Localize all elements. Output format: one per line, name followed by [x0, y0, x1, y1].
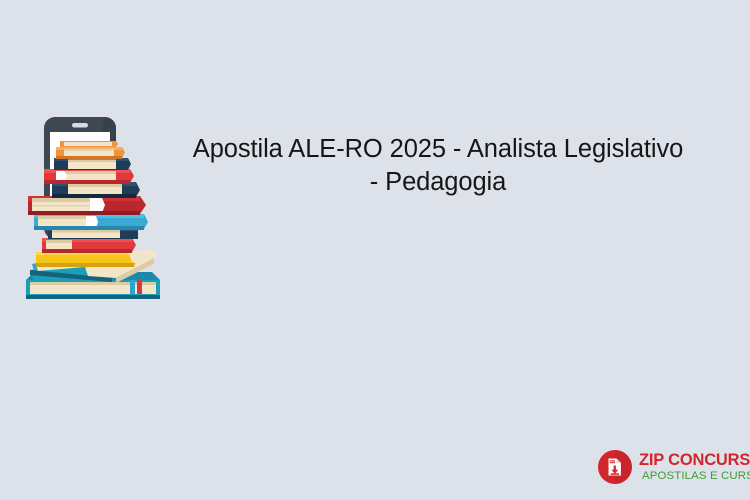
- pdf-download-icon: PDF: [598, 450, 632, 484]
- svg-text:PDF: PDF: [610, 460, 616, 464]
- book-navy-top: [54, 158, 131, 170]
- book-orange-sliver: [60, 141, 118, 147]
- page-title: Apostila ALE-RO 2025 - Analista Legislat…: [188, 133, 688, 199]
- book-crimson: [42, 238, 136, 253]
- brand-tagline: APOSTILAS E CURSOS: [639, 471, 750, 482]
- books-and-tablet-illustration: [12, 112, 170, 312]
- book-orange-top: [56, 147, 125, 159]
- book-red-small: [44, 169, 134, 184]
- book-light-blue: [34, 214, 148, 230]
- book-navy-mid: [52, 182, 140, 198]
- brand-wordmark: ZIP CONCURSOS APOSTILAS E CURSOS: [639, 452, 750, 483]
- product-card: Apostila ALE-RO 2025 - Analista Legislat…: [0, 0, 750, 500]
- brand-name: ZIP CONCURSOS: [639, 452, 750, 469]
- brand-logo[interactable]: PDF ZIP CONCURSOS APOSTILAS E CURSOS: [598, 450, 750, 484]
- book-red-large: [28, 196, 146, 215]
